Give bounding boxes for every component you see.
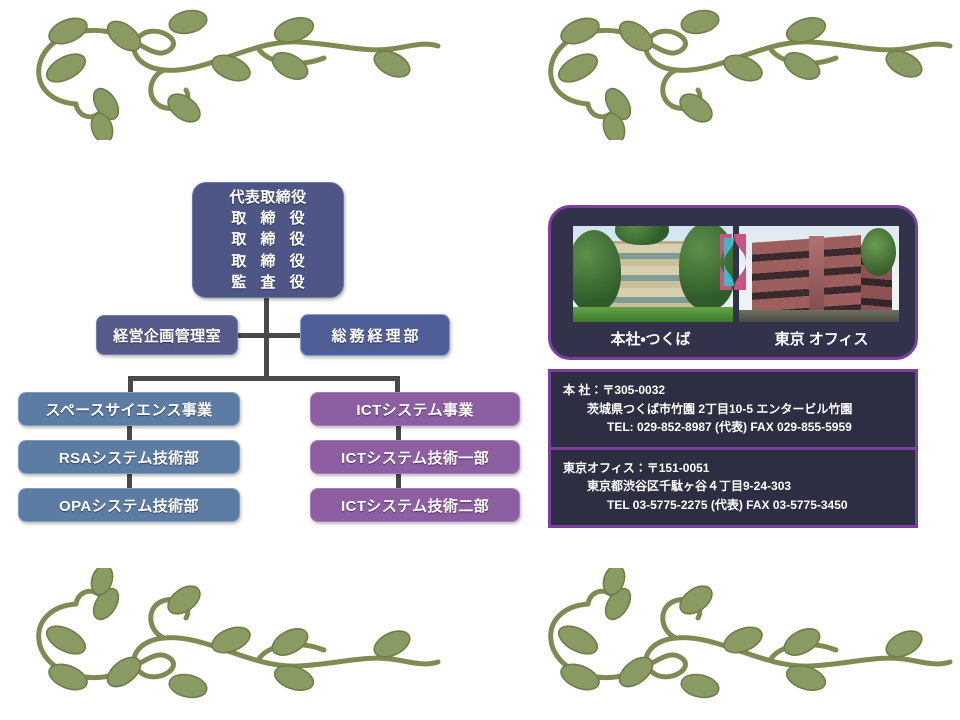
hq-address-contact: TEL: 029-852-8987 (代表) FAX 029-855-5959 bbox=[563, 418, 903, 437]
caption-tsukuba: 本社・つくば bbox=[551, 328, 736, 349]
tokyo-address-title: 東京オフィス：〒151-0051 bbox=[563, 459, 903, 478]
executive-line-1: 代表取締役 bbox=[229, 187, 306, 208]
executive-line-4: 取 締 役 bbox=[226, 251, 309, 272]
tokyo-building-main bbox=[752, 236, 861, 322]
tokyo-address-contact: TEL 03-5775-2275 (代表) FAX 03-5775-3450 bbox=[563, 496, 903, 515]
vine-ornament-bottom-right bbox=[518, 568, 954, 700]
tsukuba-tree-left bbox=[573, 230, 621, 313]
tokyo-building-column bbox=[809, 236, 823, 322]
organization-chart: 代表取締役 取 締 役 取 締 役 取 締 役 監 査 役 経営企画管理室 総務… bbox=[0, 170, 540, 530]
space-science-division-box[interactable]: スペースサイエンス事業 bbox=[18, 392, 240, 426]
connector-exec-trunk bbox=[264, 298, 269, 380]
executive-line-3: 取 締 役 bbox=[226, 229, 309, 250]
tokyo-street-base bbox=[739, 310, 899, 322]
tokyo-address-card: 東京オフィス：〒151-0051 東京都渋谷区千駄ヶ谷４丁目9-24-303 T… bbox=[548, 447, 918, 528]
slide-canvas: 代表取締役 取 締 役 取 締 役 取 締 役 監 査 役 経営企画管理室 総務… bbox=[0, 0, 960, 720]
opa-system-department-box[interactable]: OPAシステム技術部 bbox=[18, 488, 240, 522]
ict-system-department-2-box[interactable]: ICTシステム技術二部 bbox=[310, 488, 520, 522]
tsukuba-hedge bbox=[573, 307, 733, 322]
ss-logo bbox=[716, 232, 750, 292]
vine-ornament-bottom-left bbox=[6, 568, 442, 700]
caption-tokyo: 東京 オフィス bbox=[736, 328, 915, 349]
hq-address-street: 茨城県つくば市竹園 2丁目10-5 エンタービル竹園 bbox=[563, 400, 903, 419]
ict-system-department-1-box[interactable]: ICTシステム技術一部 bbox=[310, 440, 520, 474]
connector-staff-crossbar bbox=[238, 333, 304, 338]
executive-line-2: 取 締 役 bbox=[226, 208, 309, 229]
general-affairs-accounting-box[interactable]: 総務経理部 bbox=[300, 314, 450, 356]
vine-ornament-top-left bbox=[6, 8, 442, 140]
hq-address-title: 本 社：〒305-0032 bbox=[563, 381, 903, 400]
office-photo-captions: 本社・つくば 東京 オフィス bbox=[551, 328, 915, 349]
connector-division-bar bbox=[128, 376, 400, 381]
executive-box[interactable]: 代表取締役 取 締 役 取 締 役 取 締 役 監 査 役 bbox=[192, 182, 344, 298]
tokyo-tree bbox=[861, 228, 896, 276]
tokyo-office-photo bbox=[739, 226, 899, 322]
tsukuba-headquarters-photo bbox=[573, 226, 733, 322]
rsa-system-department-box[interactable]: RSAシステム技術部 bbox=[18, 440, 240, 474]
office-photos-card: 本社・つくば 東京 オフィス bbox=[548, 205, 918, 360]
offices-panel: 本社・つくば 東京 オフィス 本 社：〒305-0032 茨城県つくば市竹園 2… bbox=[548, 205, 918, 528]
executive-line-5: 監 査 役 bbox=[226, 272, 309, 293]
ict-system-division-box[interactable]: ICTシステム事業 bbox=[310, 392, 520, 426]
planning-management-office-box[interactable]: 経営企画管理室 bbox=[96, 315, 238, 355]
tokyo-address-street: 東京都渋谷区千駄ヶ谷４丁目9-24-303 bbox=[563, 477, 903, 496]
headquarters-address-card: 本 社：〒305-0032 茨城県つくば市竹園 2丁目10-5 エンタービル竹園… bbox=[548, 369, 918, 450]
vine-ornament-top-right bbox=[518, 8, 954, 140]
